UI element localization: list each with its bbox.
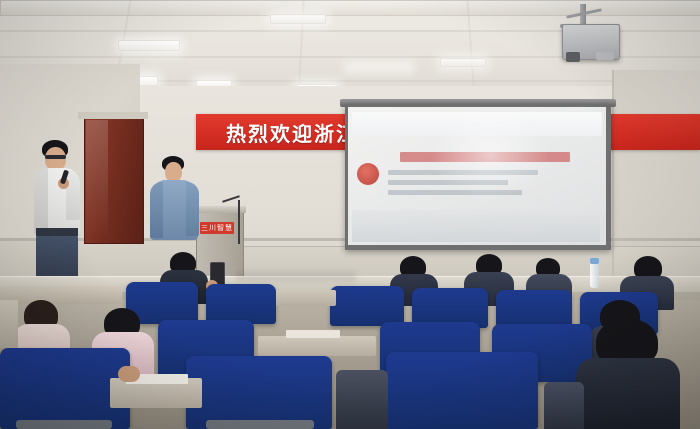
desk-far-left: [0, 286, 122, 304]
water-bottle-desk: [590, 262, 599, 288]
photograph-conference-room: 热烈欢迎浙江省×××莅临三川智慧授课 三川智慧: [0, 0, 700, 429]
presenter-center-arm-left: [186, 182, 199, 236]
projector-vent: [596, 52, 614, 60]
chair-far-3: [330, 286, 404, 326]
audience-body-10: [336, 370, 388, 429]
desk-edge-left: [0, 300, 18, 348]
door-header-trim: [78, 112, 148, 119]
chair-near-1-frame: [16, 420, 112, 429]
ceiling-panel-row: [0, 0, 700, 16]
table-shadow: [236, 272, 356, 282]
screen-glare: [430, 110, 550, 200]
presenter-left-belt: [36, 228, 78, 236]
bottle-cap: [590, 258, 599, 264]
chair-far-2: [206, 284, 276, 324]
desk-far-mid: [276, 290, 336, 306]
presenter-center-head: [165, 162, 182, 182]
slide-logo-icon: [357, 163, 379, 185]
audience-hand-2: [118, 366, 140, 382]
ceiling-light-6: [440, 58, 486, 67]
door-highlight: [86, 120, 108, 240]
presenter-left-trousers: [36, 234, 78, 280]
ceiling-glow: [344, 60, 414, 74]
presenter-left-arm-right: [34, 168, 48, 234]
audience-body-11: [544, 382, 584, 429]
podium-label: 三川智慧: [200, 222, 234, 234]
desk-mid: [258, 336, 376, 356]
chair-near-3: [386, 352, 538, 429]
presenter-center-arm-right: [150, 182, 163, 238]
mic-stand-pole: [238, 200, 240, 244]
ceiling-light-5: [270, 14, 326, 24]
paper-on-desk: [286, 330, 340, 338]
presenter-left-arm-left: [66, 170, 80, 220]
chair-near-2: [186, 356, 332, 429]
projector-lens-icon: [566, 52, 580, 62]
slide-footer-shade: [352, 210, 600, 242]
audience-body-9: [576, 358, 680, 429]
chair-near-2-frame: [206, 420, 314, 429]
presenter-left-glasses-icon: [45, 155, 66, 159]
ceiling-light-4: [118, 40, 180, 51]
